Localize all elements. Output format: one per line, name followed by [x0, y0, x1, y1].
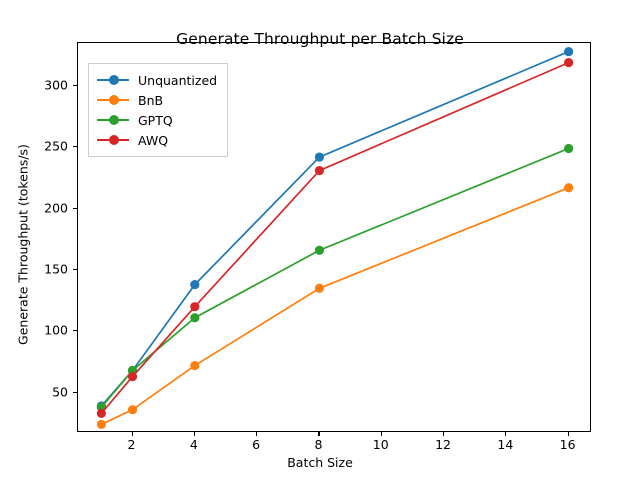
legend-item-bnb[interactable]: BnB [97, 90, 217, 110]
legend-marker-icon [97, 74, 129, 86]
legend-label: BnB [138, 93, 163, 108]
x-tick-label: 4 [190, 437, 198, 452]
data-point [190, 313, 199, 322]
legend-marker-icon [97, 114, 129, 126]
data-point [128, 372, 137, 381]
legend-item-gptq[interactable]: GPTQ [97, 110, 217, 130]
data-point [315, 166, 324, 175]
y-axis-title: Generate Throughput (tokens/s) [16, 50, 31, 440]
legend-marker-icon [97, 94, 129, 106]
legend-marker-icon [97, 134, 129, 146]
data-point [190, 280, 199, 289]
data-point [190, 302, 199, 311]
data-point [97, 409, 106, 418]
legend-item-awq[interactable]: AWQ [97, 130, 217, 150]
x-tick-label: 2 [128, 437, 136, 452]
legend-label: AWQ [138, 133, 168, 148]
series-line [101, 148, 568, 407]
data-point [190, 361, 199, 370]
data-point [315, 246, 324, 255]
data-point [128, 405, 137, 414]
series-line [101, 188, 568, 425]
data-point [564, 183, 573, 192]
series-gptq [97, 144, 573, 412]
x-tick-label: 8 [314, 437, 322, 452]
data-point [564, 47, 573, 56]
x-tick-label: 6 [252, 437, 260, 452]
x-tick-label: 14 [497, 437, 513, 452]
legend-label: GPTQ [138, 113, 173, 128]
data-point [564, 144, 573, 153]
figure-canvas: Generate Throughput per Batch Size 50100… [0, 0, 640, 480]
x-axis-title: Batch Size [0, 455, 640, 470]
data-point [315, 152, 324, 161]
x-tick-label: 12 [435, 437, 451, 452]
legend-label: Unquantized [138, 73, 217, 88]
data-point [315, 284, 324, 293]
legend-item-unquantized[interactable]: Unquantized [97, 70, 217, 90]
series-bnb [97, 183, 573, 429]
x-tick-label: 10 [373, 437, 389, 452]
data-point [564, 58, 573, 67]
data-point [97, 420, 106, 429]
legend: UnquantizedBnBGPTQAWQ [88, 63, 228, 157]
x-tick-label: 16 [560, 437, 576, 452]
